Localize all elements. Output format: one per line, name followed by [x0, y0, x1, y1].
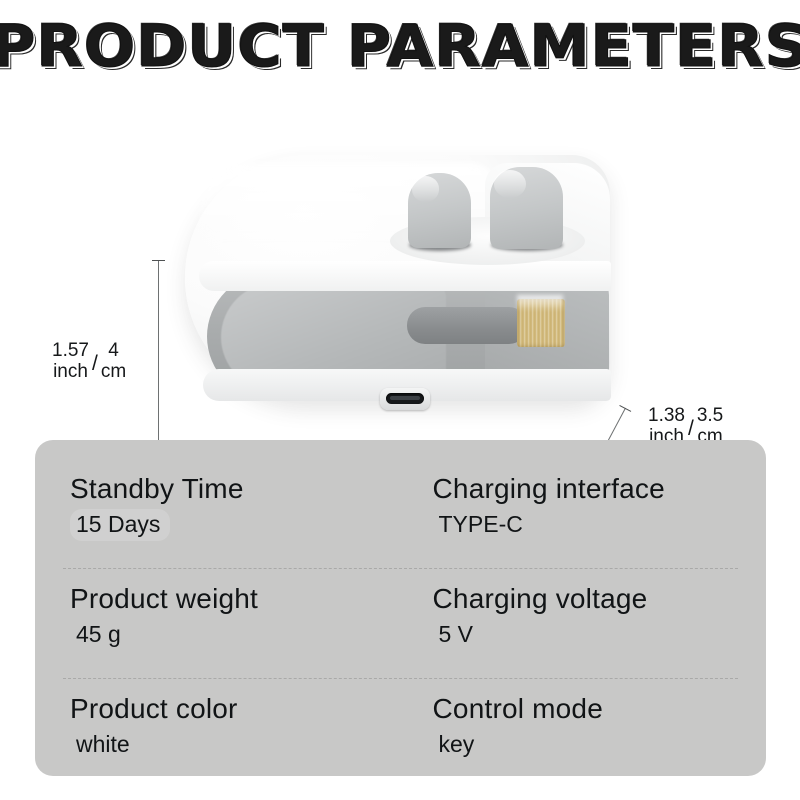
- product-device-sealer: [185, 155, 610, 420]
- spec-key: Charging interface: [433, 473, 767, 505]
- spec-key: Charging voltage: [433, 583, 767, 615]
- depth-separator: /: [688, 411, 694, 441]
- seal-bar: [407, 307, 527, 344]
- spec-value: key: [433, 729, 485, 760]
- height-separator: /: [92, 346, 98, 376]
- spec-cell-product-color: Product color white: [35, 672, 401, 782]
- device-white-lip: [199, 261, 611, 291]
- button-right: [490, 167, 563, 249]
- spec-cell-charging-interface: Charging interface TYPE-C: [401, 452, 767, 562]
- height-inch-unit: inch: [53, 361, 88, 382]
- heating-strip-highlight: [517, 295, 563, 311]
- spec-cell-control-mode: Control mode key: [401, 672, 767, 782]
- spec-value: 45 g: [70, 619, 131, 650]
- height-metric-unit: cm: [101, 361, 126, 382]
- spec-row: Product color white Control mode key: [35, 672, 766, 782]
- page-header: PRODUCT PARAMETERS: [0, 16, 800, 77]
- depth-metric-value: 3.5: [697, 405, 723, 426]
- height-inch-value: 1.57: [52, 340, 89, 361]
- spec-key: Standby Time: [70, 473, 401, 505]
- spec-key: Product weight: [70, 583, 401, 615]
- spec-cell-standby-time: Standby Time 15 Days: [35, 452, 401, 562]
- specifications-panel: Standby Time 15 Days Charging interface …: [35, 440, 766, 776]
- product-illustration: 1.57 inch / 4 cm 1.38 inch / 3.5 cm 3.74…: [0, 100, 800, 430]
- depth-inch-value: 1.38: [648, 405, 685, 426]
- height-dimension-label: 1.57 inch / 4 cm: [52, 340, 126, 383]
- usb-c-port-tongue: [390, 396, 420, 400]
- spec-cell-charging-voltage: Charging voltage 5 V: [401, 562, 767, 672]
- dimension-cap-top: [619, 405, 631, 412]
- spec-value: 15 Days: [70, 509, 170, 540]
- button-left: [408, 173, 471, 248]
- spec-key: Product color: [70, 693, 401, 725]
- spec-cell-product-weight: Product weight 45 g: [35, 562, 401, 672]
- dimension-cap-top: [152, 260, 165, 261]
- spec-row: Product weight 45 g Charging voltage 5 V: [35, 562, 766, 672]
- height-dimension-line: [158, 260, 159, 456]
- spec-value: 5 V: [433, 619, 484, 650]
- spec-key: Control mode: [433, 693, 767, 725]
- spec-value: TYPE-C: [433, 509, 533, 540]
- height-metric-value: 4: [108, 340, 119, 361]
- spec-value: white: [70, 729, 140, 760]
- page-title: PRODUCT PARAMETERS: [0, 16, 800, 77]
- spec-row: Standby Time 15 Days Charging interface …: [35, 452, 766, 562]
